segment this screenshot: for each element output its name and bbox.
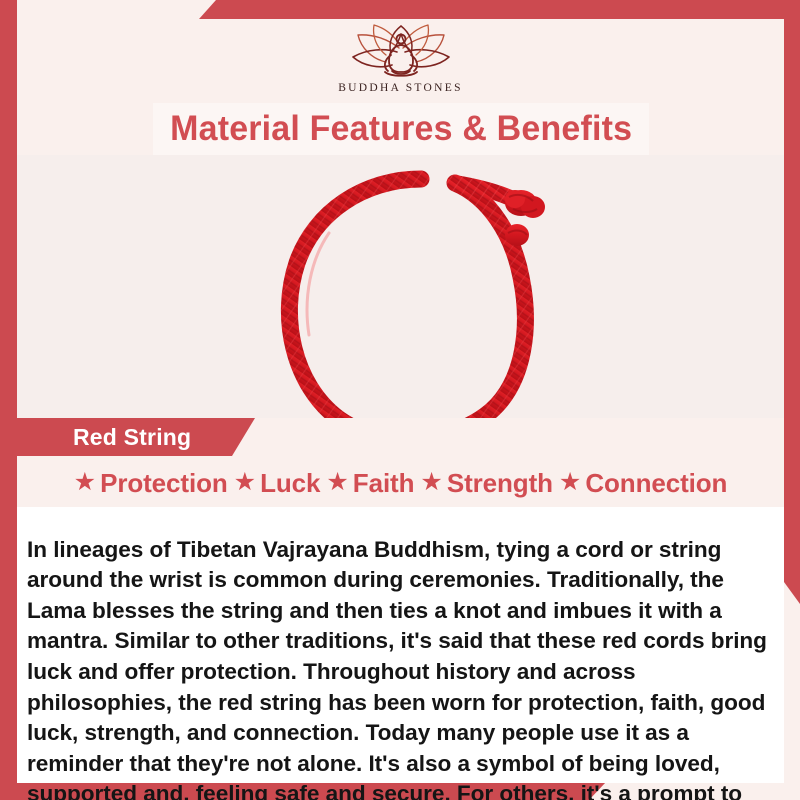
benefits-list: ★ Protection ★ Luck ★ Faith ★ Strength ★… (17, 459, 784, 507)
brand-logo: BUDDHA STONES (17, 19, 784, 94)
benefit-item-connection: ★ Connection (559, 468, 727, 499)
page-title-band: Material Features & Benefits (153, 103, 649, 155)
brand-header: BUDDHA STONES (17, 19, 784, 104)
benefit-label: Strength (447, 468, 553, 499)
star-icon: ★ (559, 470, 581, 495)
section-banner: Red String (17, 418, 255, 456)
star-icon: ★ (74, 470, 96, 495)
infographic-page: BUDDHA STONES Material Features & Benefi… (0, 0, 800, 800)
frame-right-accent-bar (784, 0, 800, 604)
section-banner-label: Red String (73, 424, 191, 451)
lotus-meditation-icon (336, 19, 466, 81)
frame-left-accent-bar (0, 0, 17, 800)
benefit-item-faith: ★ Faith (326, 468, 414, 499)
benefit-label: Protection (100, 468, 228, 499)
star-icon: ★ (420, 470, 442, 495)
frame-top-accent-bar (0, 0, 800, 19)
benefit-label: Luck (260, 468, 320, 499)
benefit-label: Faith (353, 468, 415, 499)
page-title: Material Features & Benefits (170, 109, 632, 149)
benefit-item-protection: ★ Protection (74, 468, 228, 499)
benefit-label: Connection (585, 468, 727, 499)
benefit-item-strength: ★ Strength (420, 468, 553, 499)
red-braided-cord-bracelet-icon (269, 163, 569, 418)
star-icon: ★ (326, 470, 348, 495)
product-hero (17, 155, 784, 418)
description-text: In lineages of Tibetan Vajrayana Buddhis… (27, 535, 777, 800)
brand-name: BUDDHA STONES (17, 82, 784, 94)
star-icon: ★ (234, 470, 256, 495)
benefit-item-luck: ★ Luck (234, 468, 321, 499)
description-card: In lineages of Tibetan Vajrayana Buddhis… (17, 507, 784, 783)
